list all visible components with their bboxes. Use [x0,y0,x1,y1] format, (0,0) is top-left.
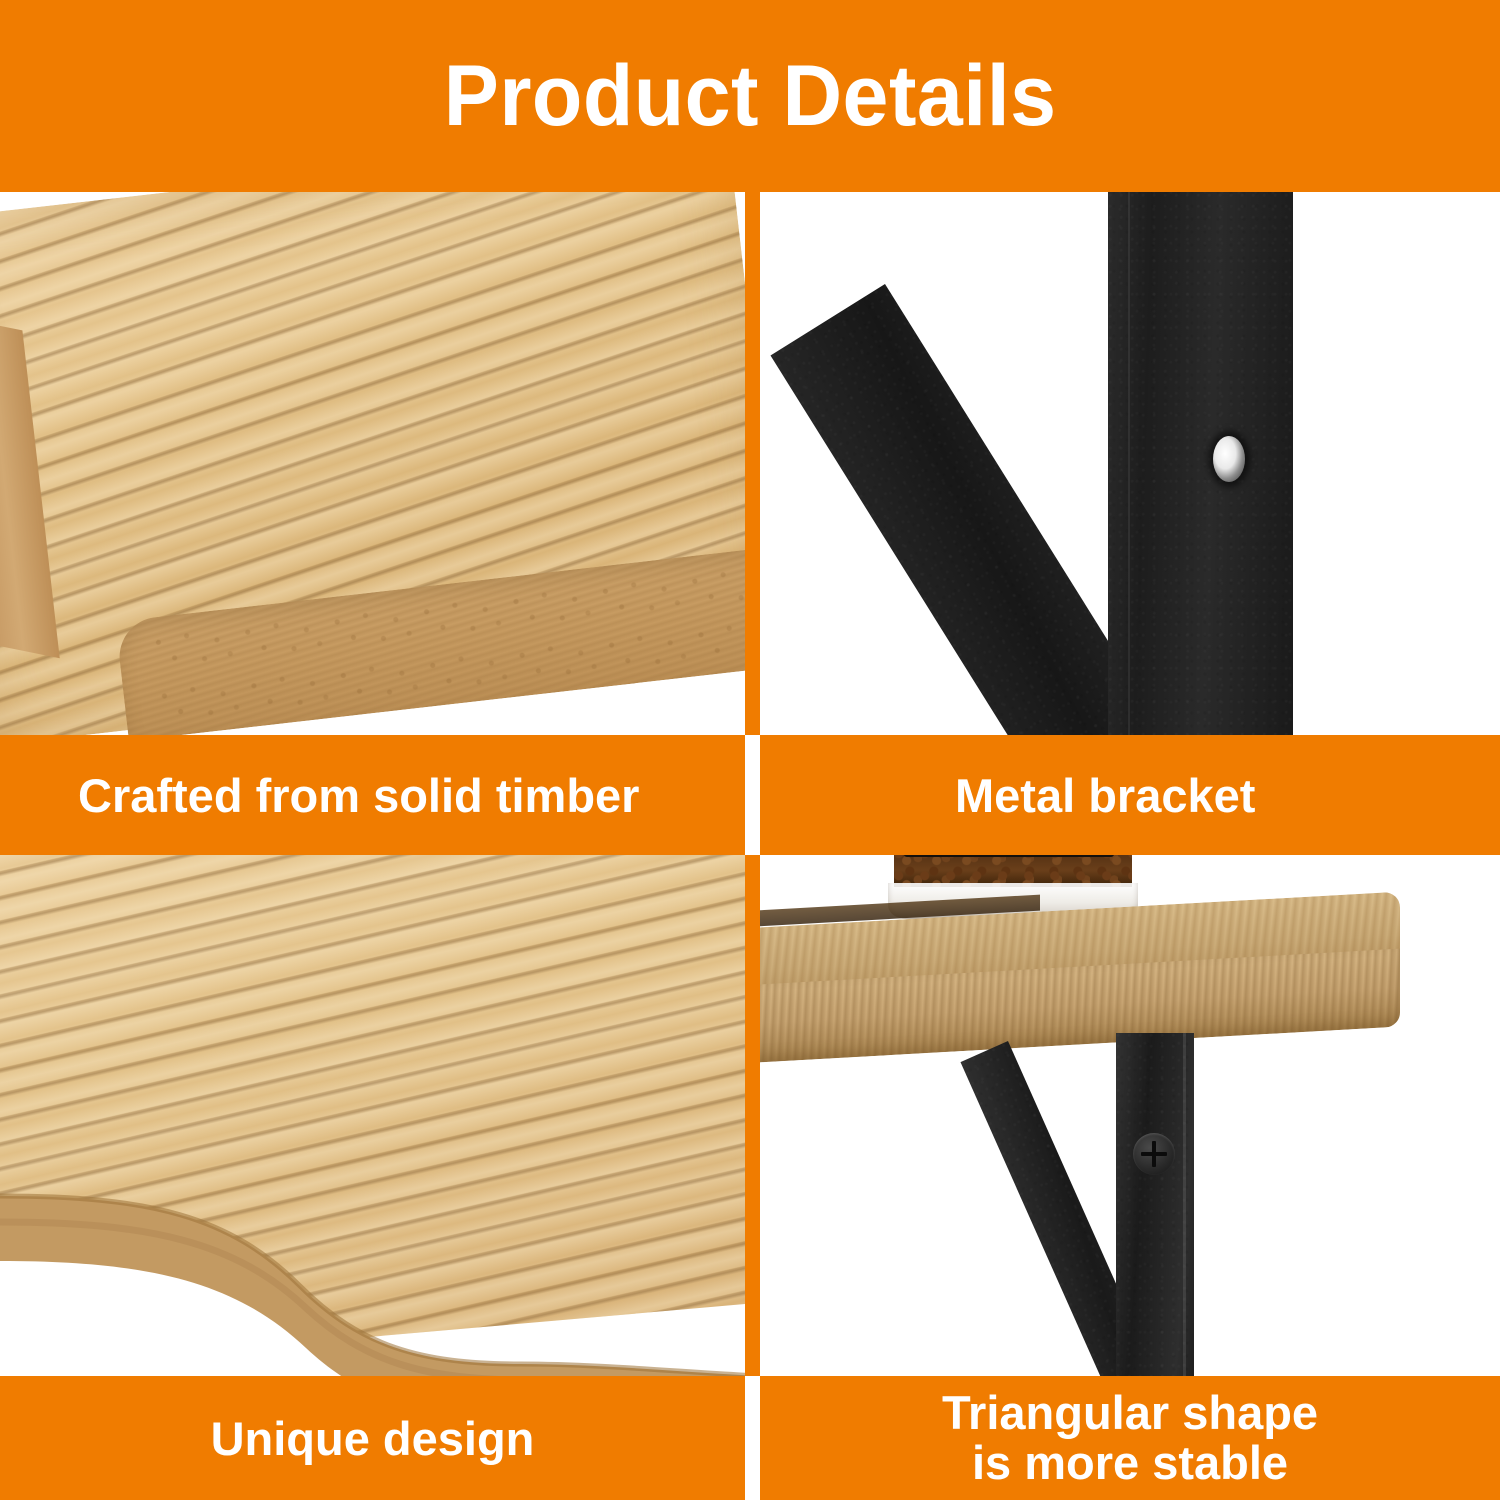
triangular-shape-photo [760,855,1500,1376]
bracket-diagonal-brace [960,1041,1260,1376]
vertical-divider-top [745,192,760,735]
metal-bracket-photo [760,192,1500,735]
panel-unique-design-image [0,855,745,1376]
caption-triangular-shape-line2: is more stable [972,1438,1288,1488]
vertical-divider-bottom [745,855,760,1376]
metal-texture-overlay [1108,192,1293,735]
panel-solid-timber-image [0,192,745,735]
unique-design-photo [0,855,745,1376]
phillips-screw-icon [1133,1133,1175,1175]
caption-triangular-shape: Triangular shape is more stable [760,1376,1500,1500]
screw-hole-icon [1213,436,1245,482]
page-title: Product Details [444,53,1057,139]
wave-cut-opening [0,1056,745,1376]
bracket-vertical-arm [1116,1033,1194,1376]
bracket-vertical-arm [1108,192,1293,735]
panel-triangular-shape-image [760,855,1500,1376]
metal-texture-overlay [1116,1033,1194,1376]
caption-metal-bracket: Metal bracket [760,735,1500,855]
caption-metal-bracket-text: Metal bracket [955,768,1255,823]
header-banner: Product Details [0,0,1500,192]
caption-triangular-shape-line1: Triangular shape [942,1388,1318,1438]
caption-unique-design: Unique design [0,1376,745,1500]
caption-solid-timber: Crafted from solid timber [0,735,745,855]
metal-texture-overlay [960,1041,1260,1376]
product-details-infographic: Product Details Crafted from solid timbe… [0,0,1500,1500]
caption-solid-timber-text: Crafted from solid timber [78,768,639,823]
caption-unique-design-text: Unique design [211,1411,535,1466]
jar-shadow-band [904,855,1114,857]
solid-timber-photo [0,192,745,735]
panel-metal-bracket-image [760,192,1500,735]
